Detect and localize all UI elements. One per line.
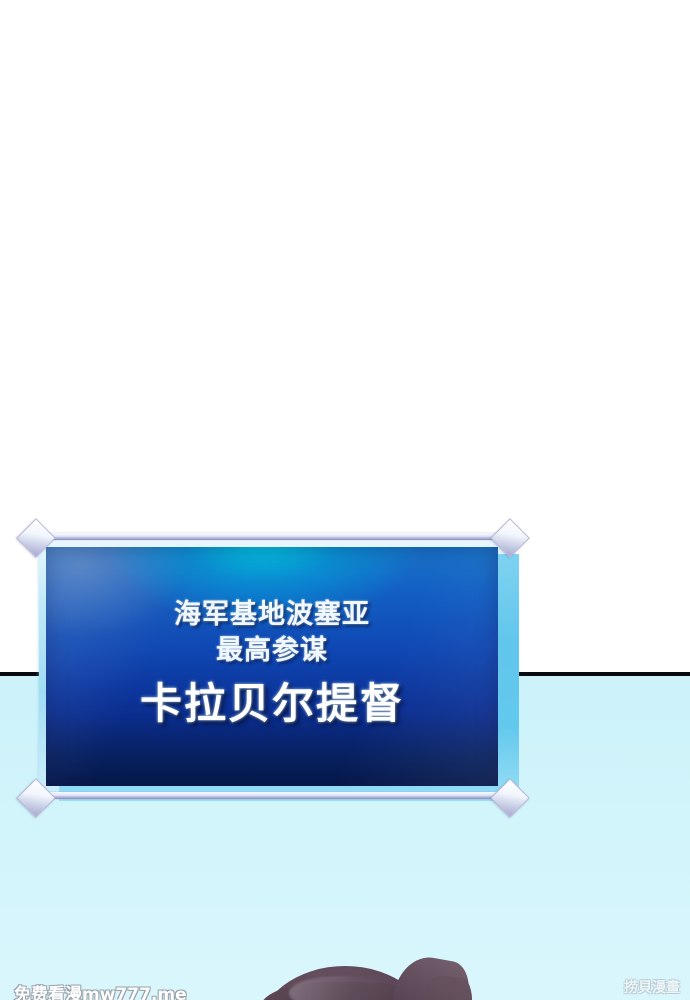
watermark-site-right: 捞貝漫畫 bbox=[624, 977, 680, 997]
frame-rail-top bbox=[36, 533, 508, 540]
watermark-site-left: 免费看漫mw777.me bbox=[14, 980, 187, 1000]
frame-rail-bottom bbox=[36, 792, 508, 799]
title-line-rank: 最高参谋 bbox=[216, 633, 328, 667]
comic-page: 海军基地波塞亚 最高参谋 卡拉贝尔提督 免费看漫mw777.me 捞貝漫畫 bbox=[0, 0, 690, 1000]
title-card-plate: 海军基地波塞亚 最高参谋 卡拉贝尔提督 bbox=[46, 547, 498, 786]
title-card-text-stack: 海军基地波塞亚 最高参谋 卡拉贝尔提督 bbox=[46, 547, 498, 786]
title-line-location: 海军基地波塞亚 bbox=[174, 597, 370, 631]
naval-base-title-card: 海军基地波塞亚 最高参谋 卡拉贝尔提督 bbox=[22, 529, 522, 804]
title-line-character-name: 卡拉贝尔提督 bbox=[140, 679, 404, 731]
